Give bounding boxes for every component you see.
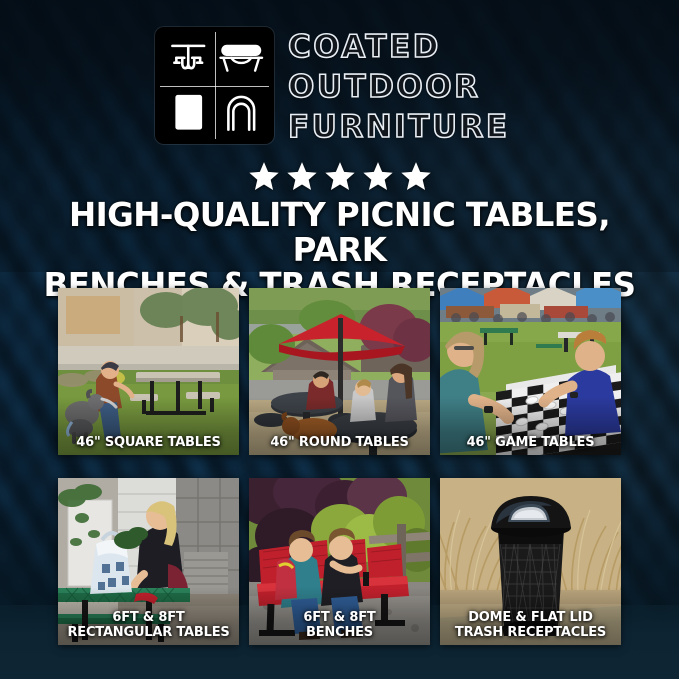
product-tile[interactable]: 46" SQUARE TABLES <box>58 288 239 455</box>
product-tile[interactable]: DOME & FLAT LID TRASH RECEPTACLES <box>440 478 621 645</box>
caption-line-1: DOME & FLAT LID <box>468 610 593 625</box>
star-icon <box>248 160 280 192</box>
logo-mark <box>155 27 274 144</box>
caption-line-2: RECTANGULAR TABLES <box>61 626 236 641</box>
product-caption: 6FT & 8FT RECTANGULAR TABLES <box>58 611 239 640</box>
caption-line-1: 46" ROUND TABLES <box>270 435 408 450</box>
brand-word-coated: COATED <box>288 28 441 66</box>
star-rating <box>0 158 679 194</box>
product-caption: DOME & FLAT LID TRASH RECEPTACLES <box>440 611 621 640</box>
brand-word-furniture: FURNITURE <box>288 108 510 146</box>
trash-receptacle-icon <box>162 86 215 138</box>
product-caption: 46" ROUND TABLES <box>249 436 430 451</box>
caption-line-2: TRASH RECEPTACLES <box>443 626 618 641</box>
picnic-table-icon <box>162 34 215 86</box>
park-bench-icon <box>215 34 268 86</box>
star-icon <box>362 160 394 192</box>
bike-rack-icon <box>215 86 268 138</box>
brand-word-outdoor: OUTDOOR <box>288 68 480 106</box>
caption-line-1: 6FT & 8FT <box>112 610 184 625</box>
product-tile[interactable]: 6FT & 8FT RECTANGULAR TABLES <box>58 478 239 645</box>
product-caption: 46" SQUARE TABLES <box>58 436 239 451</box>
star-icon <box>286 160 318 192</box>
star-icon <box>324 160 356 192</box>
product-tile[interactable]: 46" GAME TABLES <box>440 288 621 455</box>
product-tile[interactable]: 46" ROUND TABLES <box>249 288 430 455</box>
star-icon <box>400 160 432 192</box>
brand-logo: COATED OUTDOOR FURNITURE <box>155 27 530 151</box>
headline-line-1: HIGH-QUALITY PICNIC TABLES, PARK <box>69 196 610 269</box>
product-caption: 46" GAME TABLES <box>440 436 621 451</box>
caption-line-2: BENCHES <box>252 626 427 641</box>
product-tile[interactable]: 6FT & 8FT BENCHES <box>249 478 430 645</box>
product-grid: 46" SQUARE TABLES <box>58 288 622 645</box>
caption-line-1: 46" SQUARE TABLES <box>76 435 220 450</box>
caption-line-1: 46" GAME TABLES <box>467 435 595 450</box>
brand-wordmark: COATED OUTDOOR FURNITURE <box>288 27 530 146</box>
caption-line-1: 6FT & 8FT <box>303 610 375 625</box>
poster: COATED OUTDOOR FURNITURE HIGH-QUALITY PI… <box>0 0 679 679</box>
product-caption: 6FT & 8FT BENCHES <box>249 611 430 640</box>
